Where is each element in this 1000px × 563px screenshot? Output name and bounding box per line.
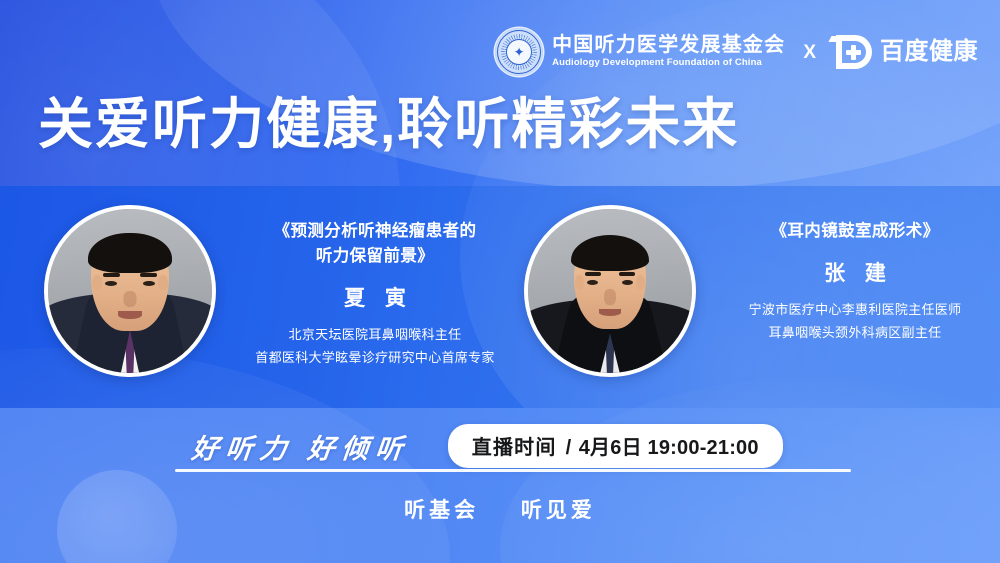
baidu-health-d-cross-icon	[834, 35, 872, 69]
footer-tagline-right: 听见爱	[521, 499, 596, 522]
slogan-underline-rule	[175, 469, 851, 472]
partner-logo: 百度健康	[834, 35, 978, 69]
header-logo-bar: ✦ 中国听力医学发展基金会 Audiology Development Foun…	[495, 24, 978, 80]
broadcast-time-separator: /	[557, 437, 579, 460]
avatar-ear-right	[158, 275, 168, 291]
talk-title-line-1: 《耳内镜鼓室成形术》	[771, 222, 940, 240]
slogan-text: 好听力 好倾听	[190, 427, 412, 466]
speaker-1-role-line-2: 首都医科大学眩晕诊疗研究中心首席专家	[230, 346, 520, 370]
partner-name: 百度健康	[880, 40, 978, 64]
avatar-brow-right	[619, 272, 635, 276]
avatar-eye-left	[587, 280, 598, 285]
avatar-brow-left	[585, 272, 601, 276]
broadcast-time-value: 4月6日 19:00-21:00	[579, 431, 759, 460]
speaker-1-info: 《预测分析听神经瘤患者的 听力保留前景》 夏 寅 北京天坛医院耳鼻咽喉科主任 首…	[230, 205, 520, 370]
footer-tagline-left: 听基会	[404, 499, 479, 522]
speaker-1-name: 夏 寅	[230, 282, 520, 312]
footer-tagline: 听基会 听见爱	[0, 494, 1000, 524]
speaker-2-name: 张 建	[710, 257, 1000, 287]
dove-emblem-icon: ✦	[495, 28, 543, 76]
foundation-name-en: Audiology Development Foundation of Chin…	[552, 58, 785, 68]
avatar-eye-right	[143, 281, 155, 286]
slogan-time-row: 好听力 好倾听 直播时间 / 4月6日 19:00-21:00	[175, 424, 855, 468]
speaker-2-talk-title: 《耳内镜鼓室成形术》	[710, 219, 1000, 244]
talk-title-line-2: 听力保留前景》	[230, 244, 520, 269]
foundation-logo: ✦ 中国听力医学发展基金会 Audiology Development Foun…	[495, 28, 785, 76]
broadcast-time-label: 直播时间	[472, 431, 557, 460]
speaker-2-role-line-2: 耳鼻咽喉头颈外科病区副主任	[710, 321, 1000, 345]
page-title: 关爱听力健康,聆听精彩未来	[38, 96, 739, 154]
speaker-2-avatar	[524, 205, 696, 377]
foundation-name-cn: 中国听力医学发展基金会	[552, 35, 785, 57]
avatar-mouth	[599, 309, 621, 316]
medical-cross-vertical	[851, 45, 856, 60]
dove-icon: ✦	[514, 46, 525, 59]
avatar-eye-right	[622, 280, 633, 285]
avatar-ear-left	[575, 275, 584, 290]
avatar-brow-right	[140, 273, 157, 277]
collaboration-x-mark: X	[801, 43, 818, 62]
foundation-name-block: 中国听力医学发展基金会 Audiology Development Founda…	[552, 35, 785, 68]
broadcast-time-badge: 直播时间 / 4月6日 19:00-21:00	[448, 424, 783, 468]
avatar-nose	[124, 291, 137, 307]
live-event-poster: ✦ 中国听力医学发展基金会 Audiology Development Foun…	[0, 0, 1000, 563]
talk-title-line-1: 《预测分析听神经瘤患者的	[274, 222, 477, 240]
speaker-2-role-line-1: 宁波市医疗中心李惠利医院主任医师	[710, 298, 1000, 322]
avatar-ear-right	[636, 275, 645, 290]
speaker-1-avatar	[44, 205, 216, 377]
speaker-1-role: 北京天坛医院耳鼻咽喉科主任 首都医科大学眩晕诊疗研究中心首席专家	[230, 323, 520, 370]
speaker-1-role-line-1: 北京天坛医院耳鼻咽喉科主任	[230, 323, 520, 347]
speaker-2-role: 宁波市医疗中心李惠利医院主任医师 耳鼻咽喉头颈外科病区副主任	[710, 298, 1000, 345]
speaker-card-1: 《预测分析听神经瘤患者的 听力保留前景》 夏 寅 北京天坛医院耳鼻咽喉科主任 首…	[44, 205, 520, 377]
speaker-1-talk-title: 《预测分析听神经瘤患者的 听力保留前景》	[230, 219, 520, 269]
avatar-nose	[604, 289, 616, 305]
avatar-eye-left	[105, 281, 117, 286]
avatar-brow-left	[103, 273, 120, 277]
speaker-card-2: 《耳内镜鼓室成形术》 张 建 宁波市医疗中心李惠利医院主任医师 耳鼻咽喉头颈外科…	[524, 205, 1000, 377]
speaker-2-info: 《耳内镜鼓室成形术》 张 建 宁波市医疗中心李惠利医院主任医师 耳鼻咽喉头颈外科…	[710, 205, 1000, 345]
avatar-ear-left	[92, 275, 102, 291]
avatar-mouth	[118, 311, 142, 319]
